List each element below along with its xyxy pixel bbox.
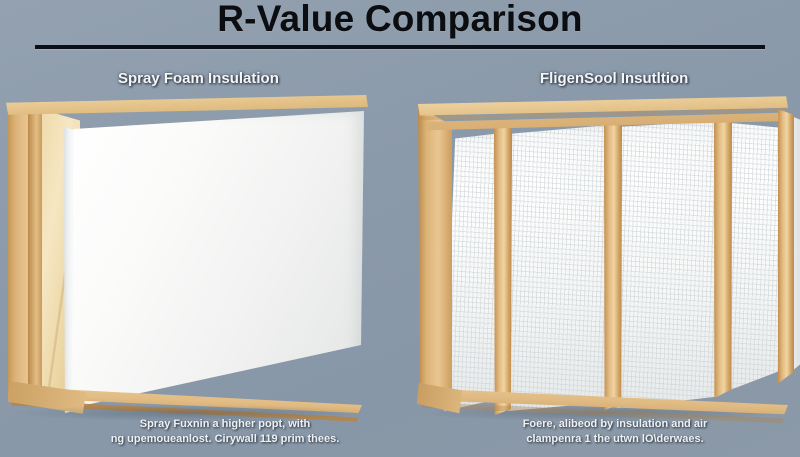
caption-line-1: Spray Fuxnin a higher popt, with — [140, 418, 311, 430]
wood-stud — [604, 117, 622, 413]
caption-fiberglass: Foere, alibeod by insulation and air cla… — [450, 417, 780, 447]
caption-line-2: ng upemoueanlost. Cirywall 119 prim thee… — [60, 432, 390, 447]
page-title: R-Value Comparison — [0, 0, 800, 40]
wood-stud — [778, 109, 794, 401]
title-divider — [35, 45, 765, 49]
fiberglass-batt — [506, 125, 610, 411]
wall-assembly-fiberglass — [410, 95, 800, 415]
figure-canvas: R-Value Comparison Spray Foam Insulation… — [0, 0, 800, 457]
wood-end-post — [418, 107, 452, 407]
wood-stud — [714, 113, 732, 407]
panel-label-spray-foam: Spray Foam Insulation — [118, 70, 279, 87]
fiberglass-batt — [616, 121, 720, 411]
caption-line-1: Foere, alibeod by insulation and air — [523, 418, 708, 430]
caption-line-2: clampenra 1 the utwn lO\derwaes. — [450, 432, 780, 447]
drywall-panel — [66, 111, 364, 411]
caption-spray-foam: Spray Fuxnin a higher popt, with ng upem… — [60, 417, 390, 447]
wood-inner-stud — [28, 105, 42, 399]
wood-stud — [494, 123, 512, 415]
panel-label-fiberglass: FligenSool Insutltion — [540, 70, 688, 87]
wall-assembly-spray-foam — [0, 95, 390, 415]
